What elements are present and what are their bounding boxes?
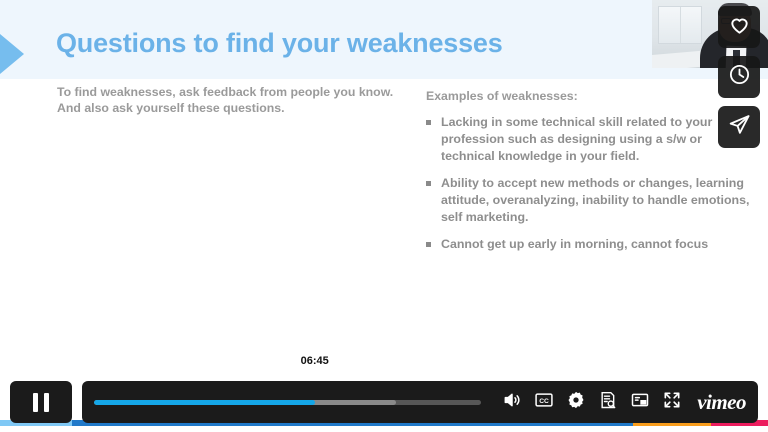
bullet-item: Cannot get up early in morning, cannot f… — [426, 236, 756, 253]
controls-group: 06:45 CC — [82, 381, 758, 423]
pause-icon-bar-right — [44, 393, 49, 412]
examples-column: Examples of weaknesses: Lacking in some … — [426, 88, 756, 263]
bullet-item: Lacking in some technical skill related … — [426, 114, 756, 165]
volume-button[interactable] — [499, 389, 525, 415]
player-control-bar[interactable]: 06:45 CC — [0, 378, 768, 426]
arrow-decoration-icon — [0, 34, 24, 74]
transcript-button[interactable] — [595, 389, 621, 415]
picture-in-picture-button[interactable] — [627, 389, 653, 415]
webcam-office-window — [658, 6, 702, 44]
gear-icon — [566, 390, 586, 415]
bullet-item: Ability to accept new methods or changes… — [426, 175, 756, 226]
transcript-icon — [598, 390, 618, 415]
cc-icon: CC — [534, 390, 554, 415]
watch-later-button[interactable] — [718, 56, 760, 98]
bullet-text: Ability to accept new methods or changes… — [441, 175, 756, 226]
fullscreen-icon — [662, 390, 682, 415]
examples-heading: Examples of weaknesses: — [426, 88, 756, 104]
like-button[interactable] — [718, 6, 760, 48]
bullet-text: Cannot get up early in morning, cannot f… — [441, 236, 708, 253]
time-tooltip: 06:45 — [294, 353, 336, 370]
vimeo-logo[interactable]: vimeo — [697, 390, 746, 415]
progress-scrubber[interactable]: 06:45 — [94, 381, 481, 423]
heart-icon — [728, 13, 751, 41]
slide-title: Questions to find your weaknesses — [56, 28, 503, 59]
volume-icon — [502, 390, 522, 415]
slide-intro-text: To find weaknesses, ask feedback from pe… — [57, 85, 417, 116]
vimeo-video-player[interactable]: Questions to find your weaknesses To fin… — [0, 0, 768, 432]
fullscreen-button[interactable] — [659, 389, 685, 415]
progress-track[interactable] — [94, 400, 481, 405]
svg-text:CC: CC — [539, 398, 549, 405]
share-icon — [728, 113, 751, 141]
share-button[interactable] — [718, 106, 760, 148]
clock-icon — [728, 63, 751, 91]
progress-played — [94, 400, 315, 405]
pip-icon — [630, 390, 650, 415]
captions-button[interactable]: CC — [531, 389, 557, 415]
bullet-marker-icon — [426, 242, 431, 247]
settings-button[interactable] — [563, 389, 589, 415]
bullet-text: Lacking in some technical skill related … — [441, 114, 756, 165]
bullet-marker-icon — [426, 120, 431, 125]
bullet-marker-icon — [426, 181, 431, 186]
play-pause-button[interactable] — [10, 381, 72, 423]
pause-icon-bar-left — [33, 393, 38, 412]
